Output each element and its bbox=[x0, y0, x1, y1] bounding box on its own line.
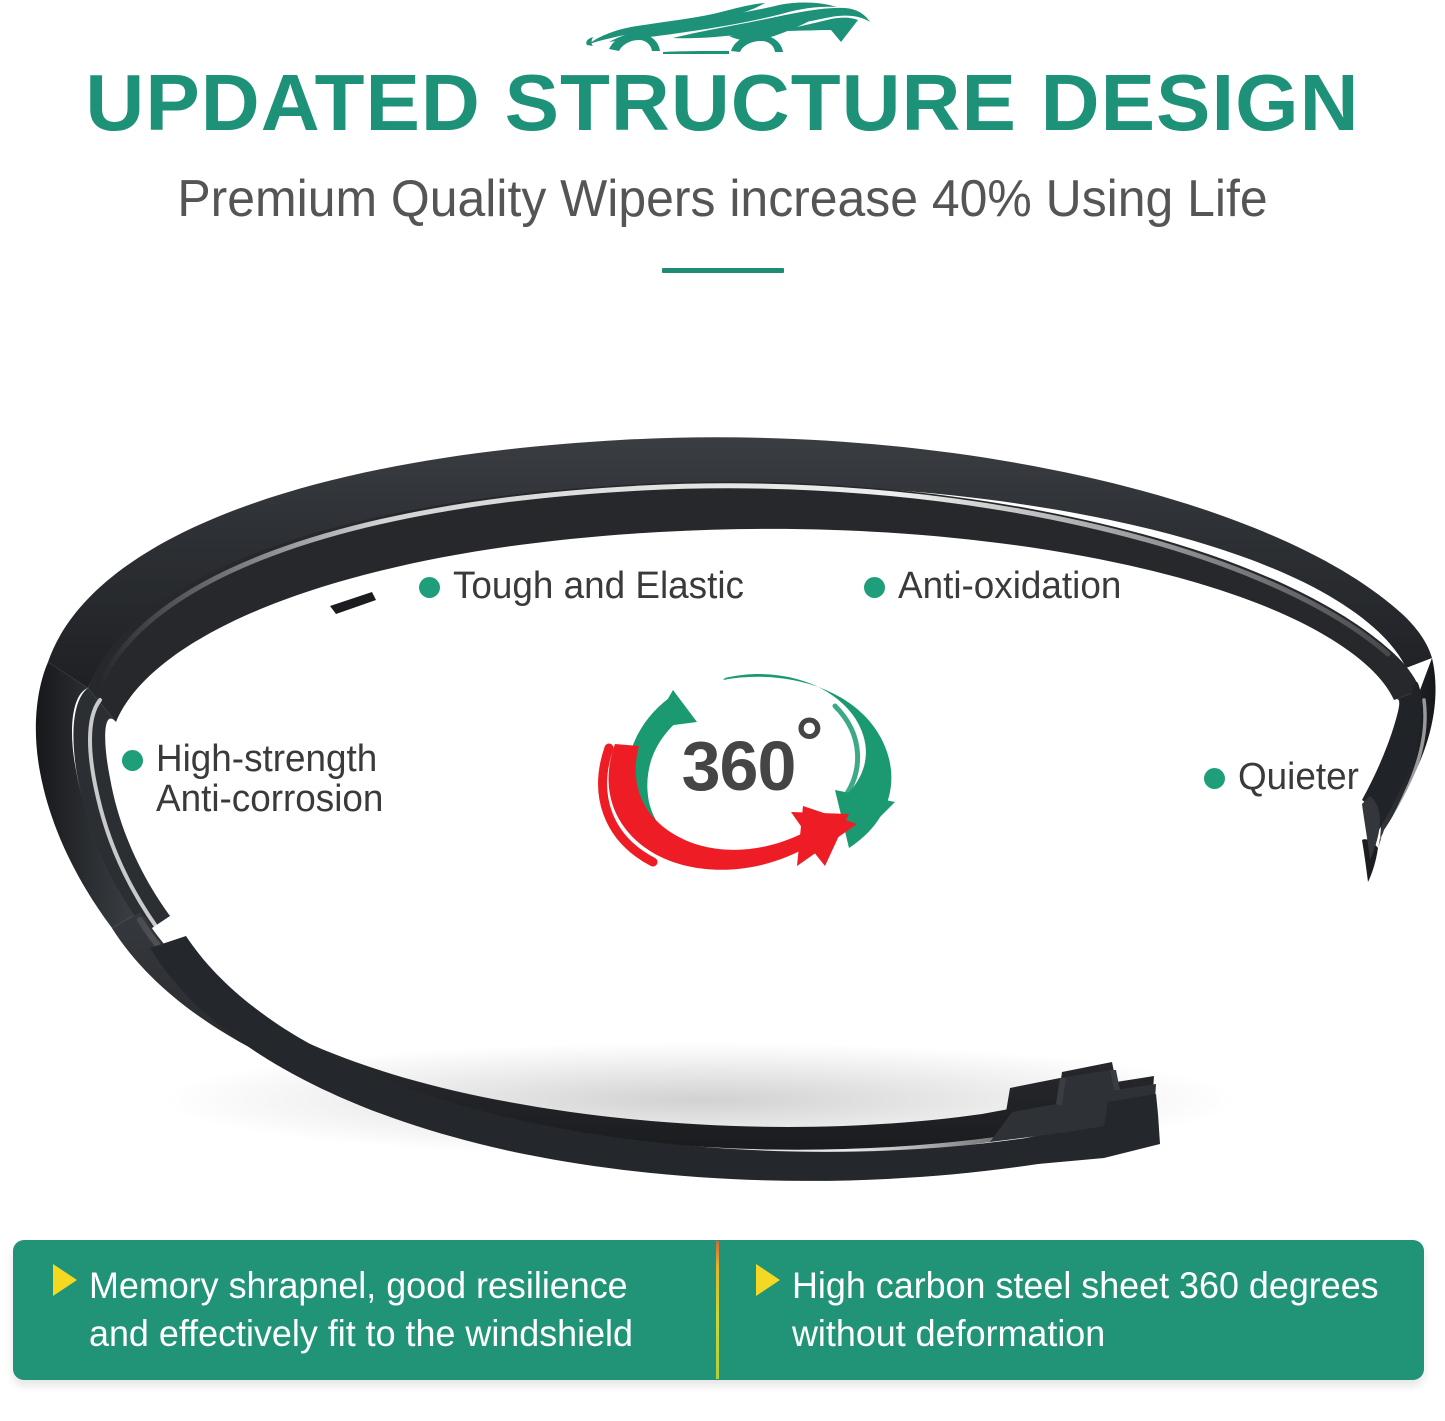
feature-panel-memory-shrapnel: Memory shrapnel, good resilience and eff… bbox=[13, 1240, 716, 1380]
callout-quieter: Quieter bbox=[1204, 757, 1363, 797]
page-title: UPDATED STRUCTURE DESIGN bbox=[0, 60, 1445, 146]
feature-panel-line1: High carbon steel sheet 360 degrees bbox=[792, 1265, 1379, 1306]
callout-tough-and-elastic: Tough and Elastic bbox=[419, 566, 753, 606]
callout-label: Tough and Elastic bbox=[453, 566, 744, 606]
page-subtitle: Premium Quality Wipers increase 40% Usin… bbox=[29, 168, 1416, 230]
triangle-bullet-icon bbox=[53, 1264, 77, 1296]
callout-anti-oxidation: Anti-oxidation bbox=[864, 566, 1128, 606]
panel-divider bbox=[716, 1241, 719, 1379]
callout-high-strength-anti-corrosion: High-strength Anti-corrosion bbox=[122, 739, 390, 819]
feature-panel-line2: and effectively fit to the windshield bbox=[89, 1313, 633, 1354]
feature-panel-line1: Memory shrapnel, good resilience bbox=[89, 1265, 628, 1306]
bullet-dot-icon bbox=[419, 577, 440, 598]
triangle-bullet-icon bbox=[756, 1264, 780, 1296]
feature-panel-line2: without deformation bbox=[792, 1313, 1105, 1354]
callout-label-line2: Anti-corrosion bbox=[156, 778, 383, 820]
bullet-dot-icon bbox=[1204, 768, 1225, 789]
feature-panel-high-carbon-steel: High carbon steel sheet 360 degrees with… bbox=[716, 1240, 1424, 1380]
callout-label: Quieter bbox=[1238, 757, 1359, 797]
feature-panel-text: High carbon steel sheet 360 degrees with… bbox=[792, 1262, 1379, 1358]
sports-car-silhouette-icon bbox=[573, 2, 873, 60]
bullet-dot-icon bbox=[122, 750, 143, 771]
callout-label-line1: High-strength bbox=[156, 738, 377, 780]
callout-label-multiline: High-strength Anti-corrosion bbox=[156, 739, 383, 819]
360-degree-rotation-badge: 360° bbox=[573, 652, 923, 880]
feature-panel-text: Memory shrapnel, good resilience and eff… bbox=[89, 1262, 633, 1358]
title-divider-rule bbox=[662, 268, 784, 273]
callout-label: Anti-oxidation bbox=[898, 566, 1121, 606]
bullet-dot-icon bbox=[864, 577, 885, 598]
product-infographic-page: UPDATED STRUCTURE DESIGN Premium Quality… bbox=[0, 0, 1445, 1421]
